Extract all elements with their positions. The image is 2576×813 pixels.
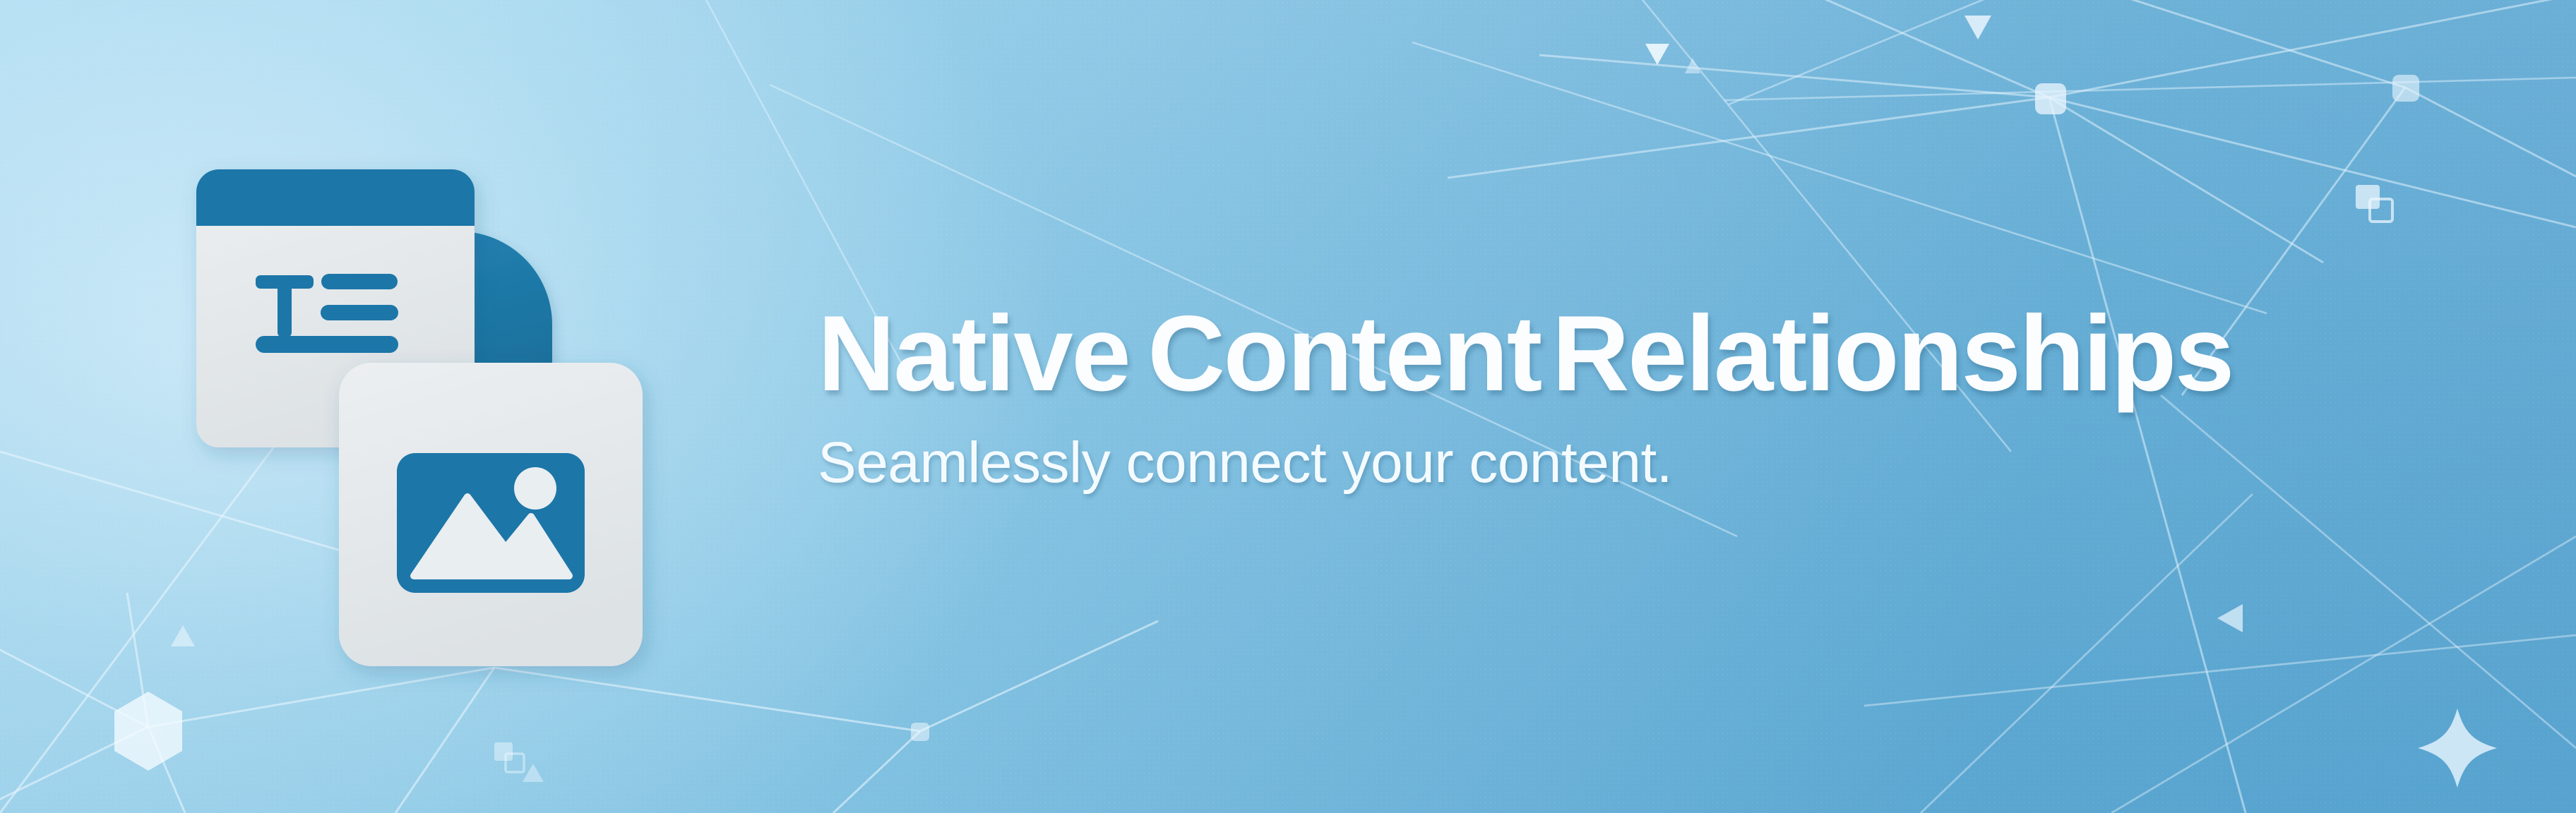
image-card: [339, 363, 643, 666]
page-title: NativeContentRelationships: [818, 299, 2442, 409]
banner-root: NativeContentRelationships Seamlessly co…: [0, 0, 2576, 813]
content-relationship-illustration: [177, 127, 756, 692]
document-card-header: [196, 169, 475, 226]
page-subtitle: Seamlessly connect your content.: [818, 431, 2442, 495]
headline-word-2: Content: [1147, 294, 1541, 414]
headline-word-1: Native: [818, 294, 1129, 414]
banner-text-block: NativeContentRelationships Seamlessly co…: [818, 299, 2442, 495]
headline-word-3: Relationships: [1552, 294, 2233, 414]
sun-circle: [514, 467, 556, 510]
